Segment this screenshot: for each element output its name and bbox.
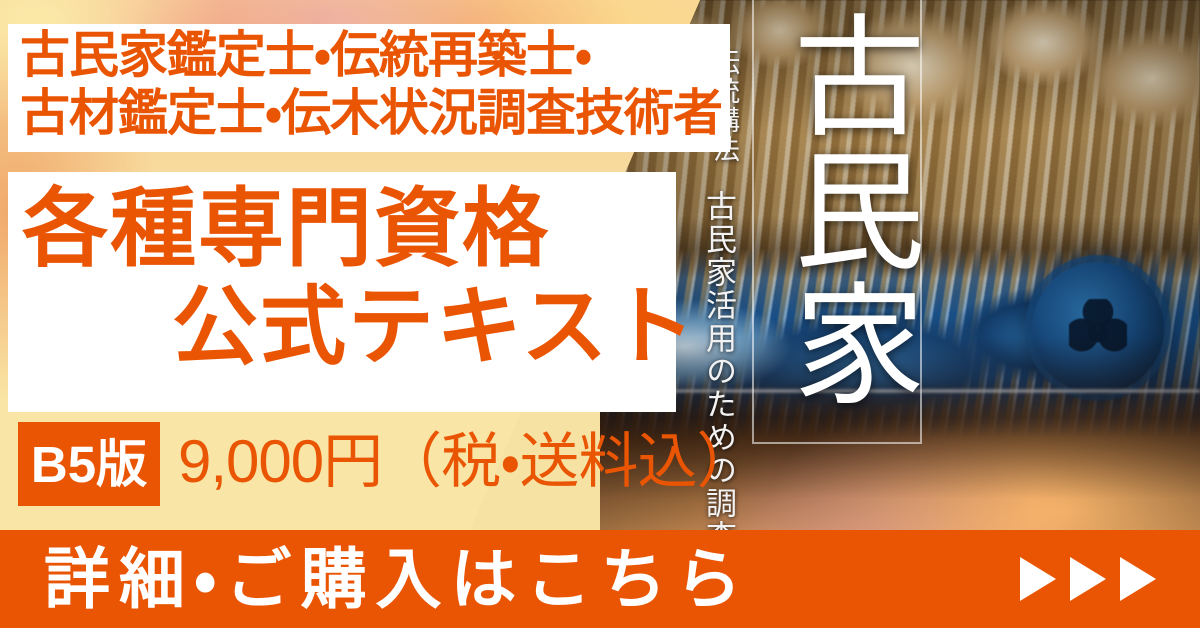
play-arrow-icon	[1120, 557, 1156, 601]
format-badge: B5版	[18, 422, 160, 506]
price-row: B5版 9,000円（税・送料込）	[0, 420, 700, 510]
play-arrow-icon	[1070, 557, 1106, 601]
cta-label: 詳細・ご購入はこちら	[44, 546, 750, 612]
book-subtitle-description: 古民家活用のための調査と再生の	[696, 190, 741, 580]
qualifications-line-1: 古民家鑑定士・伝統再築士・	[20, 30, 591, 80]
play-arrow-icon	[1020, 557, 1056, 601]
cta-arrows	[1020, 557, 1156, 601]
price-amount: 9,000円（税・送料込）	[178, 432, 756, 492]
headline-line-1: 各種専門資格	[22, 186, 550, 272]
headline-line-2: 公式テキスト	[172, 284, 697, 370]
cta-bar[interactable]: 詳細・ご購入はこちら	[0, 530, 1200, 628]
book-title: 古民家	[760, 8, 915, 410]
promo-banner: 古民家 伝統構法 古民家活用のための調査と再生の 古民家鑑定士・伝統再築士・ 古…	[0, 0, 1200, 628]
qualifications-line-2: 古材鑑定士・伝木状況調査技術者	[20, 88, 722, 138]
format-badge-label: B5版	[31, 439, 147, 490]
